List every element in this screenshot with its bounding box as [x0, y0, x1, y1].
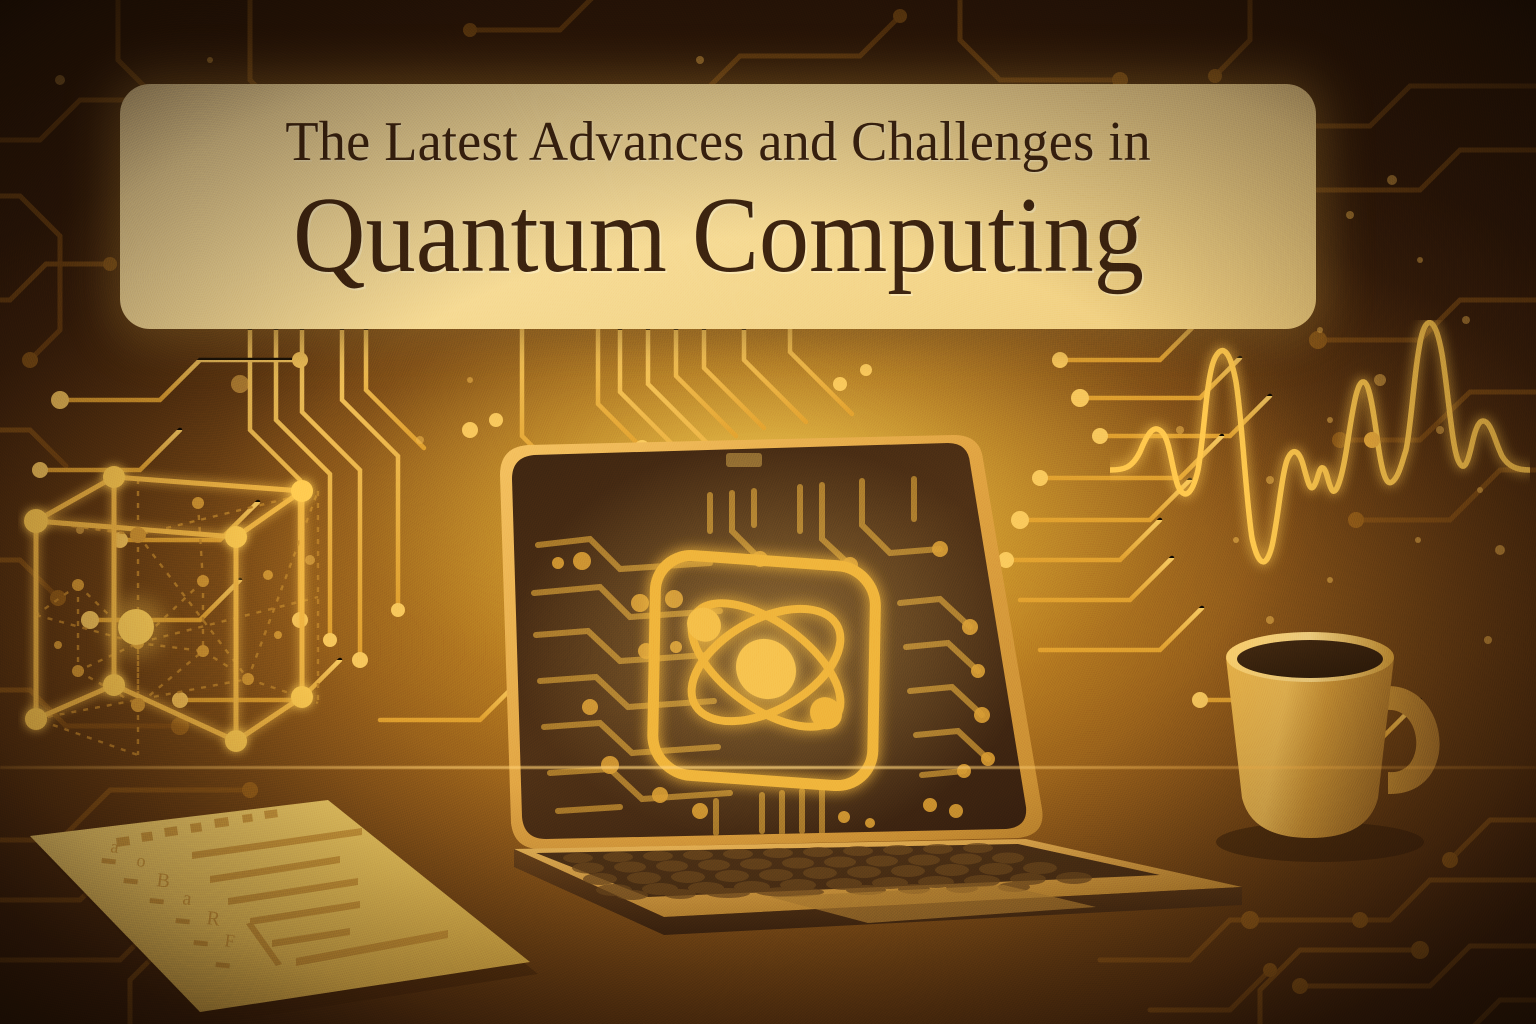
hero-illustration: The Latest Advances and Challenges in Qu…	[0, 0, 1536, 1024]
title-line-2: Quantum Computing	[293, 182, 1144, 290]
waveform-marker-dot	[1364, 432, 1380, 448]
lattice-cube	[18, 455, 348, 795]
laptop	[470, 435, 1260, 945]
title-line-1: The Latest Advances and Challenges in	[285, 114, 1150, 170]
coffee-surface	[1237, 640, 1383, 678]
desk-edge-highlight	[0, 766, 1536, 769]
title-banner: The Latest Advances and Challenges in Qu…	[120, 84, 1316, 329]
mug-handle	[1386, 686, 1440, 794]
svg-text:B: B	[155, 869, 171, 892]
mug-body	[1226, 658, 1394, 838]
coffee-mug	[1190, 600, 1480, 890]
lattice-center-node	[118, 609, 154, 645]
document-paper: a o B a R F	[10, 790, 550, 1020]
